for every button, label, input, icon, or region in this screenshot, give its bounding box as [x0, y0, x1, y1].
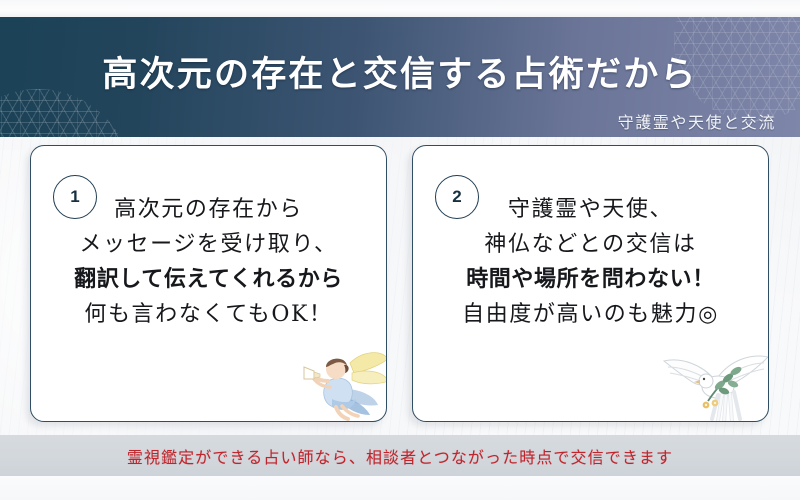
slide-canvas: 高次元の存在と交信する占術だから 守護霊や天使と交流 1 高次元の存在から メッ… [0, 0, 800, 500]
card-2-line-4: 自由度が高いのも魅力◎ [413, 297, 768, 332]
info-card-1: 1 高次元の存在から メッセージを受け取り、 翻訳して伝えてくれるから 何も言わ… [30, 145, 387, 422]
card-1-line-4: 何も言わなくてもOK！ [31, 297, 386, 332]
card-1-number-badge: 1 [53, 175, 97, 219]
card-2-line-2: 神仏などとの交信は [413, 227, 768, 262]
header-band: 高次元の存在と交信する占術だから 守護霊や天使と交流 [0, 17, 800, 137]
dove-illustration-icon [660, 339, 769, 422]
cards-container: 1 高次元の存在から メッセージを受け取り、 翻訳して伝えてくれるから 何も言わ… [0, 145, 800, 430]
card-1-line-2: メッセージを受け取り、 [31, 227, 386, 262]
page-title: 高次元の存在と交信する占術だから [0, 46, 800, 97]
footer-under-strip [0, 476, 800, 500]
card-2-line-3: 時間や場所を問わない！ [413, 262, 768, 297]
card-1-line-3: 翻訳して伝えてくれるから [31, 262, 386, 297]
fairy-illustration-icon [300, 345, 387, 422]
top-white-strip [0, 0, 800, 17]
footer-text: 霊視鑑定ができる占い師なら、相談者とつながった時点で交信できます [127, 444, 673, 468]
info-card-2: 2 守護霊や天使、 神仏などとの交信は 時間や場所を問わない！ 自由度が高いのも… [412, 145, 769, 422]
card-2-number-badge: 2 [435, 175, 479, 219]
page-subtitle: 守護霊や天使と交流 [618, 109, 776, 133]
footer-band: 霊視鑑定ができる占い師なら、相談者とつながった時点で交信できます [0, 435, 800, 476]
